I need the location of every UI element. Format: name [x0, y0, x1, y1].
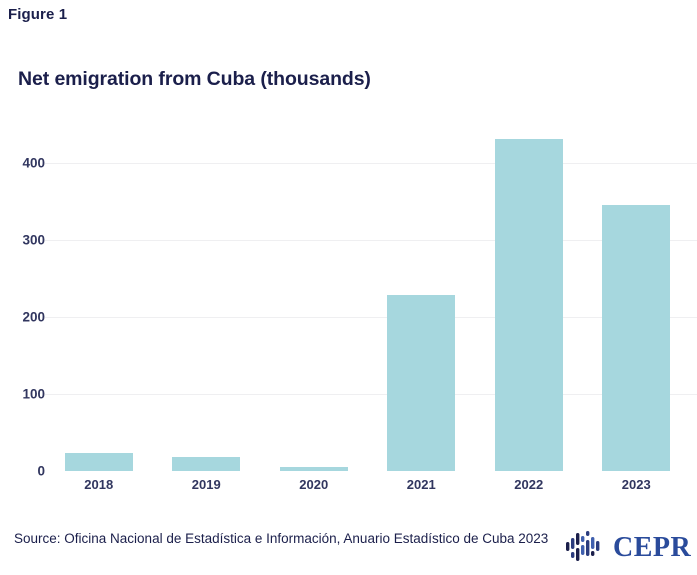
x-axis-tick-label: 2023 [622, 477, 651, 492]
x-axis-tick-label: 2020 [299, 477, 328, 492]
y-axis-tick-label: 300 [3, 232, 45, 247]
gridline [45, 163, 697, 164]
chart-title: Net emigration from Cuba (thousands) [18, 68, 371, 91]
y-axis-tick-label: 100 [3, 386, 45, 401]
x-axis-tick-labels: 201820192020202120222023 [0, 477, 697, 499]
bar-chart-plot-area: 0100200300400 [0, 120, 697, 475]
x-axis-tick-label: 2018 [84, 477, 113, 492]
cepr-logo: CEPR [563, 527, 689, 569]
bar[interactable] [172, 457, 240, 471]
bar[interactable] [65, 453, 133, 471]
bar[interactable] [280, 467, 348, 471]
y-axis-tick-label: 200 [3, 309, 45, 324]
x-axis-tick-label: 2021 [407, 477, 436, 492]
gridline [45, 240, 697, 241]
bar[interactable] [602, 205, 670, 471]
y-axis-tick-label: 400 [3, 155, 45, 170]
y-axis-tick-labels: 0100200300400 [0, 120, 45, 475]
bar[interactable] [387, 295, 455, 471]
gridline [45, 394, 697, 395]
cepr-logo-mark-icon [563, 529, 609, 567]
cepr-wordmark: CEPR [613, 534, 691, 562]
figure-footer: Source: Oficina Nacional de Estadística … [0, 525, 697, 575]
gridline [45, 317, 697, 318]
x-axis-tick-label: 2022 [514, 477, 543, 492]
source-note: Source: Oficina Nacional de Estadística … [14, 530, 554, 547]
bar[interactable] [495, 139, 563, 471]
figure-label: Figure 1 [8, 6, 67, 23]
x-axis-tick-label: 2019 [192, 477, 221, 492]
